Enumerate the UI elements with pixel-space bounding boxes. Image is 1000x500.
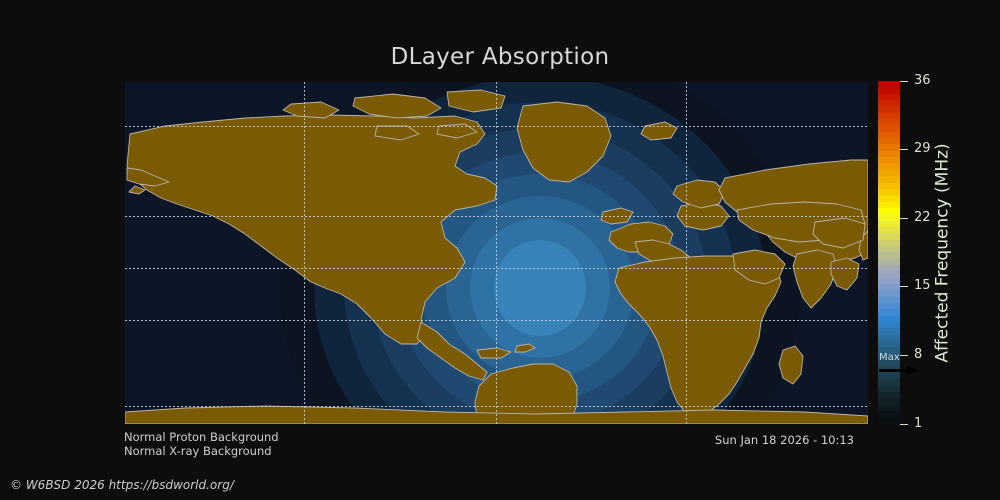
copyright: © W6BSD 2026 https://bsdworld.org/ xyxy=(10,478,234,492)
colorbar-tick-mark xyxy=(900,218,908,219)
colorbar-tick-mark xyxy=(900,81,908,82)
colorbar-tick-label: 36 xyxy=(914,74,931,87)
page-title: DLayer Absorption xyxy=(0,44,1000,70)
app-root: DLayer Absorption xyxy=(0,0,1000,500)
timestamp: Sun Jan 18 2026 - 10:13 xyxy=(715,433,854,447)
absorption-contour-9 xyxy=(494,240,586,336)
colorbar-tick-label: 15 xyxy=(914,279,931,292)
colorbar-tick-label: 1 xyxy=(914,417,922,430)
xray-background-status: Normal X-ray Background xyxy=(124,444,272,458)
colorbar-tick-label: 29 xyxy=(914,142,931,155)
colorbar-tick-mark xyxy=(900,149,908,150)
world-map-svg xyxy=(125,82,868,424)
max-arrow-icon xyxy=(879,366,919,375)
colorbar-tick-label: 22 xyxy=(914,211,931,224)
max-marker-label: Max xyxy=(879,352,900,363)
colorbar-step-53 xyxy=(878,417,900,423)
proton-background-status: Normal Proton Background xyxy=(124,430,279,444)
colorbar-tick-mark xyxy=(900,424,908,425)
colorbar-tick-mark xyxy=(900,286,908,287)
max-marker: Max xyxy=(878,352,922,380)
colorbar-axis-label: Affected Frequency (MHz) xyxy=(931,81,955,424)
world-map-panel[interactable] xyxy=(125,82,868,424)
colorbar-axis-label-text: Affected Frequency (MHz) xyxy=(933,143,953,362)
